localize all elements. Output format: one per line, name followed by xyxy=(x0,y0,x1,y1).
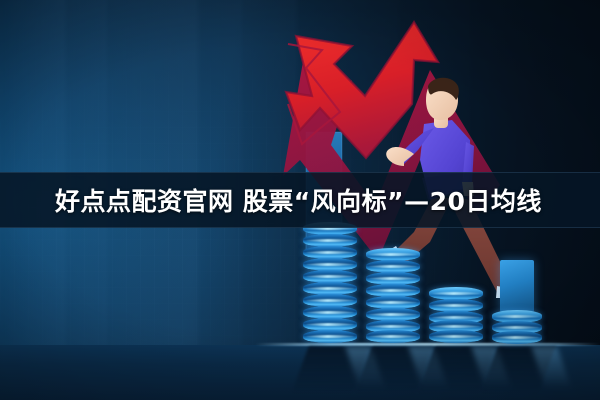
promo-banner: 好点点配资官网 股票“风向标”—20日均线 xyxy=(0,0,600,400)
title-band: 好点点配资官网 股票“风向标”—20日均线 xyxy=(0,172,600,228)
page-title: 好点点配资官网 股票“风向标”—20日均线 xyxy=(55,182,542,218)
